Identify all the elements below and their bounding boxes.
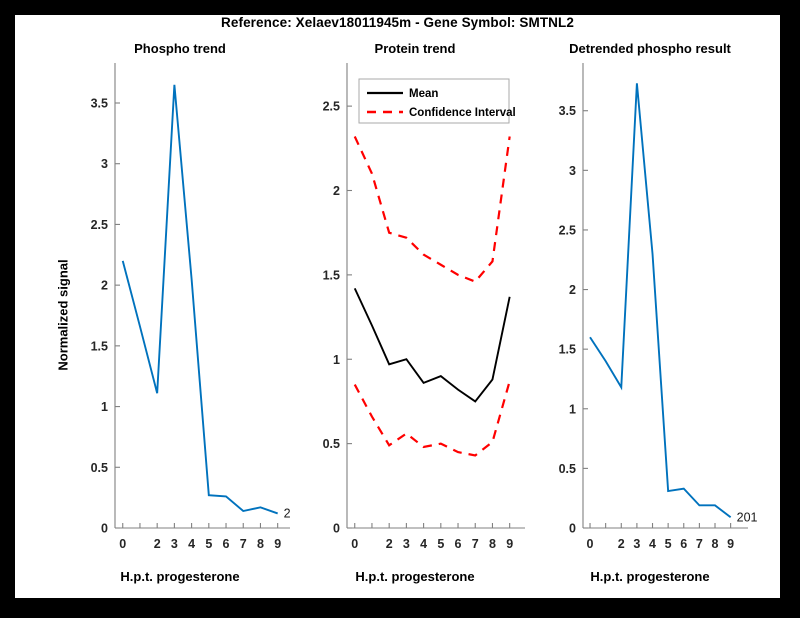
x-tick-label: 4: [420, 537, 427, 551]
y-tick-label: 2.5: [323, 100, 340, 114]
panel-detrended-phospho-result: Detrended phospho result 00.511.522.533.…: [535, 41, 765, 586]
x-tick-label: 5: [205, 537, 212, 551]
y-tick-label: 2: [101, 279, 108, 293]
x-tick-label: 9: [727, 537, 734, 551]
y-tick-label: 0.5: [91, 461, 108, 475]
data-series-line: [355, 288, 510, 401]
y-tick-label: 0.5: [323, 437, 340, 451]
x-tick-label: 3: [403, 537, 410, 551]
series-end-annotation: 201: [284, 506, 290, 520]
y-tick-label: 3: [101, 157, 108, 171]
y-tick-label: 1: [333, 353, 340, 367]
x-tick-label: 2: [618, 537, 625, 551]
y-tick-label: 1: [101, 400, 108, 414]
legend-label: Confidence Interval: [409, 107, 516, 119]
x-axis-label-protein-trend: H.p.t. progesterone: [305, 569, 525, 584]
y-tick-label: 0: [333, 522, 340, 536]
data-series-line: [355, 381, 510, 455]
y-tick-label: 2.5: [91, 218, 108, 232]
x-tick-label: 8: [489, 537, 496, 551]
panel-phospho-trend: Phospho trend 00.511.522.533.50234567892…: [70, 41, 290, 586]
data-series-line: [123, 85, 278, 514]
x-tick-label: 8: [712, 537, 719, 551]
x-tick-label: 6: [223, 537, 230, 551]
y-tick-label: 3.5: [559, 104, 576, 118]
data-series-line: [355, 137, 510, 282]
y-tick-label: 2.5: [559, 223, 576, 237]
x-tick-label: 4: [188, 537, 195, 551]
plot-protein-trend: 00.511.522.5023456789MeanConfidence Inte…: [305, 41, 525, 586]
y-tick-label: 1.5: [559, 343, 576, 357]
x-tick-label: 0: [587, 537, 594, 551]
x-tick-label: 7: [240, 537, 247, 551]
y-tick-label: 0.5: [559, 462, 576, 476]
y-tick-label: 1: [569, 402, 576, 416]
x-tick-label: 2: [386, 537, 393, 551]
x-tick-label: 9: [274, 537, 281, 551]
y-tick-label: 2: [569, 283, 576, 297]
x-tick-label: 6: [680, 537, 687, 551]
x-tick-label: 4: [649, 537, 656, 551]
y-tick-label: 2: [333, 184, 340, 198]
x-tick-label: 9: [506, 537, 513, 551]
data-series-line: [590, 83, 731, 517]
x-tick-label: 7: [696, 537, 703, 551]
x-tick-label: 5: [665, 537, 672, 551]
y-tick-label: 0: [101, 522, 108, 536]
x-tick-label: 7: [472, 537, 479, 551]
legend-label: Mean: [409, 88, 438, 100]
y-axis-label: Normalized signal: [56, 259, 71, 370]
panel-protein-trend: Protein trend 00.511.522.5023456789MeanC…: [305, 41, 525, 586]
y-tick-label: 0: [569, 522, 576, 536]
plot-detrended-phospho-result: 00.511.522.533.5023456789201: [535, 41, 765, 586]
y-tick-label: 1.5: [91, 339, 108, 353]
x-axis-label-detrended-phospho-result: H.p.t. progesterone: [535, 569, 765, 584]
figure-title: Reference: Xelaev18011945m - Gene Symbol…: [15, 15, 780, 30]
x-tick-label: 5: [437, 537, 444, 551]
y-tick-label: 3.5: [91, 97, 108, 111]
figure-canvas: Reference: Xelaev18011945m - Gene Symbol…: [15, 15, 780, 598]
x-tick-label: 8: [257, 537, 264, 551]
plot-phospho-trend: 00.511.522.533.5023456789201: [70, 41, 290, 586]
y-tick-label: 1.5: [323, 268, 340, 282]
x-tick-label: 0: [351, 537, 358, 551]
x-tick-label: 0: [119, 537, 126, 551]
x-tick-label: 2: [154, 537, 161, 551]
x-axis-label-phospho-trend: H.p.t. progesterone: [70, 569, 290, 584]
x-tick-label: 3: [633, 537, 640, 551]
series-end-annotation: 201: [737, 510, 758, 524]
y-tick-label: 3: [569, 164, 576, 178]
x-tick-label: 3: [171, 537, 178, 551]
x-tick-label: 6: [455, 537, 462, 551]
